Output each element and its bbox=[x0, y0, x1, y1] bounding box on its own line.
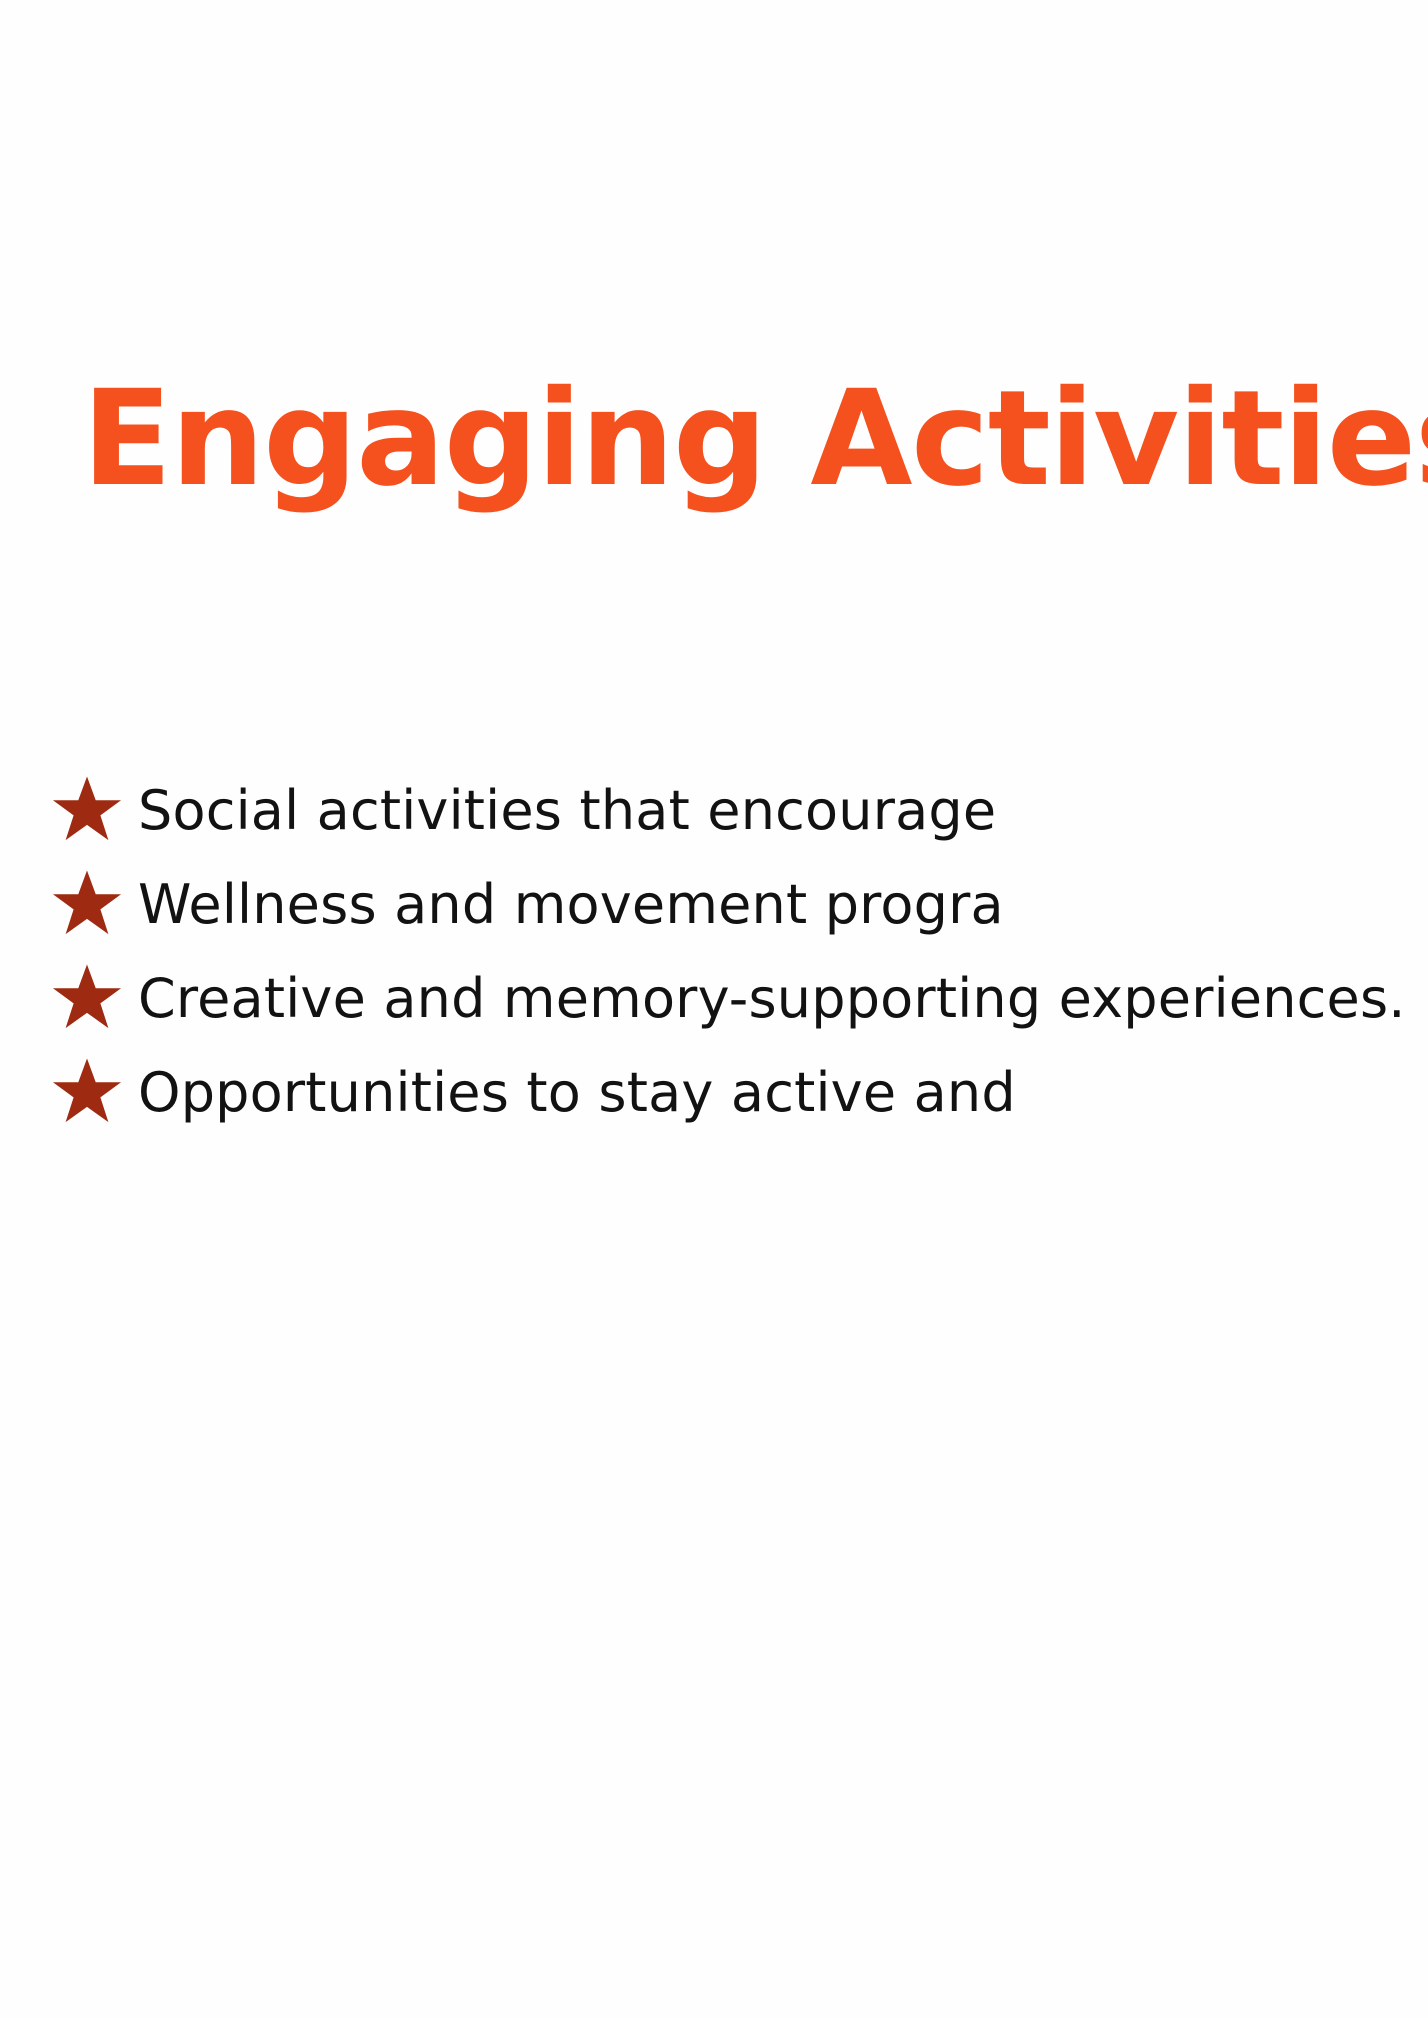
list-item: Social activities that encourage bbox=[42, 764, 1428, 858]
list-item-label: Opportunities to stay active and bbox=[138, 1046, 1428, 1140]
list-item: Creative and memory-supporting experienc… bbox=[42, 952, 1428, 1046]
list-item-label: Wellness and movement progra bbox=[138, 858, 1428, 952]
star-icon bbox=[50, 866, 124, 940]
star-icon bbox=[50, 1054, 124, 1128]
title-block: Engaging Activities bbox=[82, 285, 1428, 594]
list-item-label: Creative and memory-supporting experienc… bbox=[138, 952, 1428, 1046]
page-title: Engaging Activities bbox=[82, 373, 1428, 505]
list-item: Wellness and movement progra bbox=[42, 858, 1428, 952]
list-item-label: Social activities that encourage bbox=[138, 764, 1428, 858]
list-item: Opportunities to stay active and bbox=[42, 1046, 1428, 1140]
bullet-list: Social activities that encourage Wellnes… bbox=[42, 764, 1428, 1140]
slide-canvas: Engaging Activities Social activities th… bbox=[0, 0, 1428, 2018]
star-icon bbox=[50, 772, 124, 846]
star-icon bbox=[50, 960, 124, 1034]
